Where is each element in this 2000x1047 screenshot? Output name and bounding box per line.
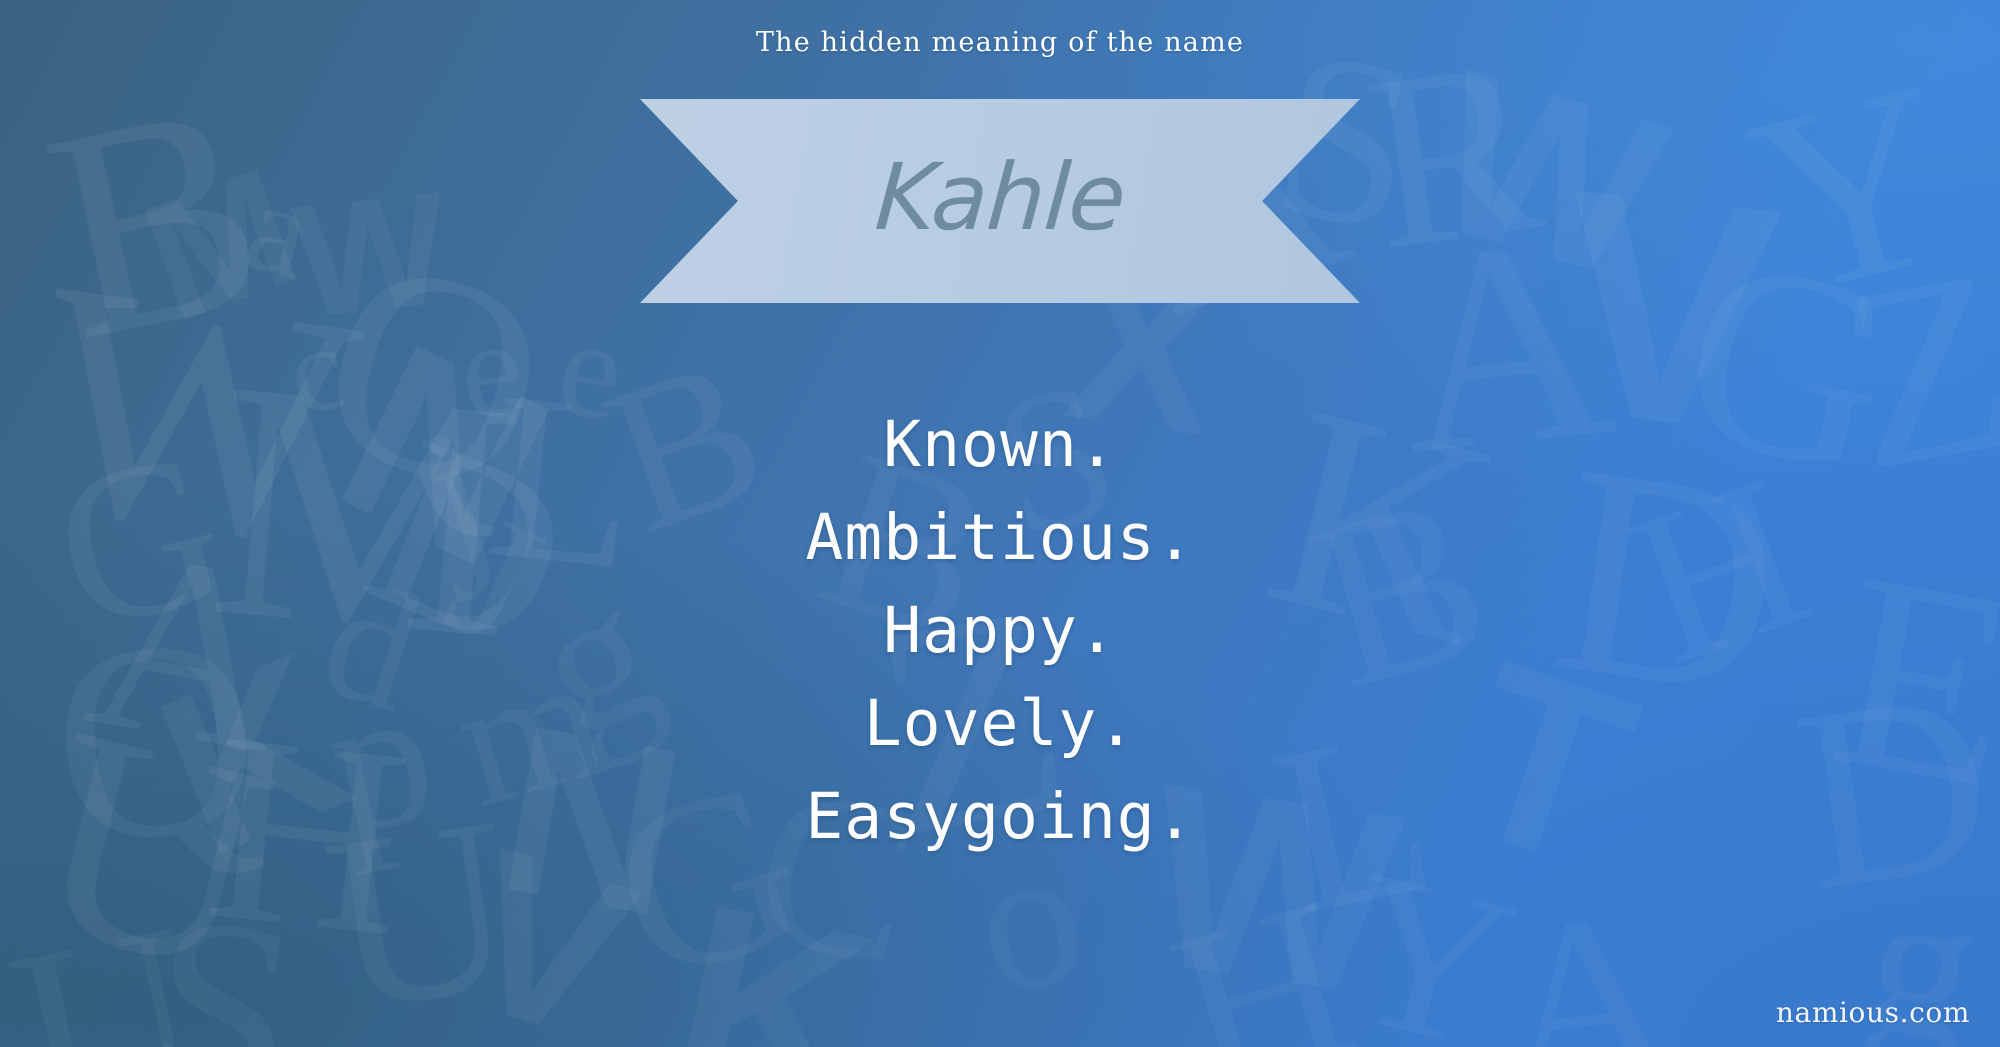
name-meaning-graphic: BWMaWQcNeLjMDGAQUKHdpJmNUVBegKZBSXASRWAV… (0, 0, 2000, 1047)
meaning-line: Ambitious. (0, 491, 2000, 584)
meaning-line: Lovely. (0, 677, 2000, 770)
meaning-list: Known.Ambitious.Happy.Lovely.Easygoing. (0, 398, 2000, 863)
name-ribbon-banner: Kahle (640, 99, 1360, 303)
meaning-line: Happy. (0, 584, 2000, 677)
meaning-line: Known. (0, 398, 2000, 491)
name-text: Kahle (633, 99, 1367, 303)
meaning-line: Easygoing. (0, 770, 2000, 863)
page-title: The hidden meaning of the name (0, 27, 2000, 58)
site-watermark: namious.com (1776, 996, 1970, 1029)
